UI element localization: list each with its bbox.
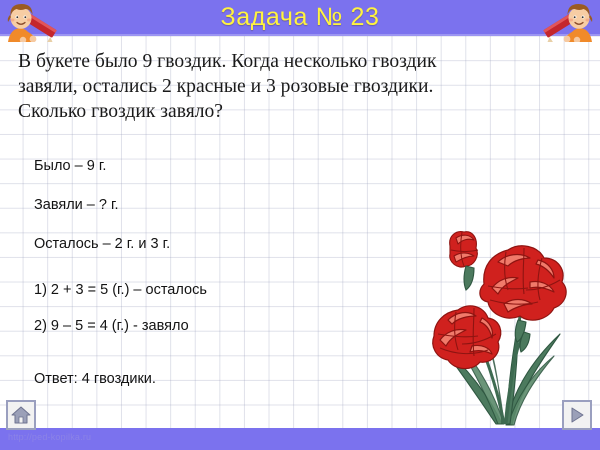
slide-canvas: Задача № 23	[0, 0, 600, 450]
statement-line: завяли, остались 2 красные и 3 розовые г…	[18, 74, 584, 99]
boy-with-pencil-icon	[0, 0, 66, 42]
spacer	[34, 253, 414, 282]
solution-step: 1) 2 + 3 = 5 (г.) – осталось	[34, 282, 414, 299]
home-icon	[11, 405, 31, 425]
solution-block: Было – 9 г. Завяли – ? г. Осталось – 2 г…	[34, 158, 414, 388]
solution-step: 2) 9 – 5 = 4 (г.) - завяло	[34, 318, 414, 335]
red-carnations-illustration	[420, 228, 590, 428]
condition-line: Завяли – ? г.	[34, 197, 414, 214]
condition-line: Было – 9 г.	[34, 158, 414, 175]
statement-line: Сколько гвоздик завяло?	[18, 99, 584, 124]
spacer	[34, 335, 414, 371]
page-title: Задача № 23	[0, 0, 600, 36]
condition-line: Осталось – 2 г. и 3 г.	[34, 236, 414, 253]
problem-statement: В букете было 9 гвоздик. Когда несколько…	[18, 49, 584, 124]
header-banner: Задача № 23	[0, 0, 600, 36]
boy-with-pencil-icon	[534, 0, 600, 42]
next-arrow-icon	[568, 406, 586, 424]
footer-bar: http://ped-kopilka.ru	[0, 428, 600, 450]
statement-line: В букете было 9 гвоздик. Когда несколько…	[18, 49, 584, 74]
watermark: http://ped-kopilka.ru	[8, 432, 91, 442]
next-slide-button[interactable]	[562, 400, 592, 430]
answer-line: Ответ: 4 гвоздики.	[34, 371, 414, 388]
home-button[interactable]	[6, 400, 36, 430]
